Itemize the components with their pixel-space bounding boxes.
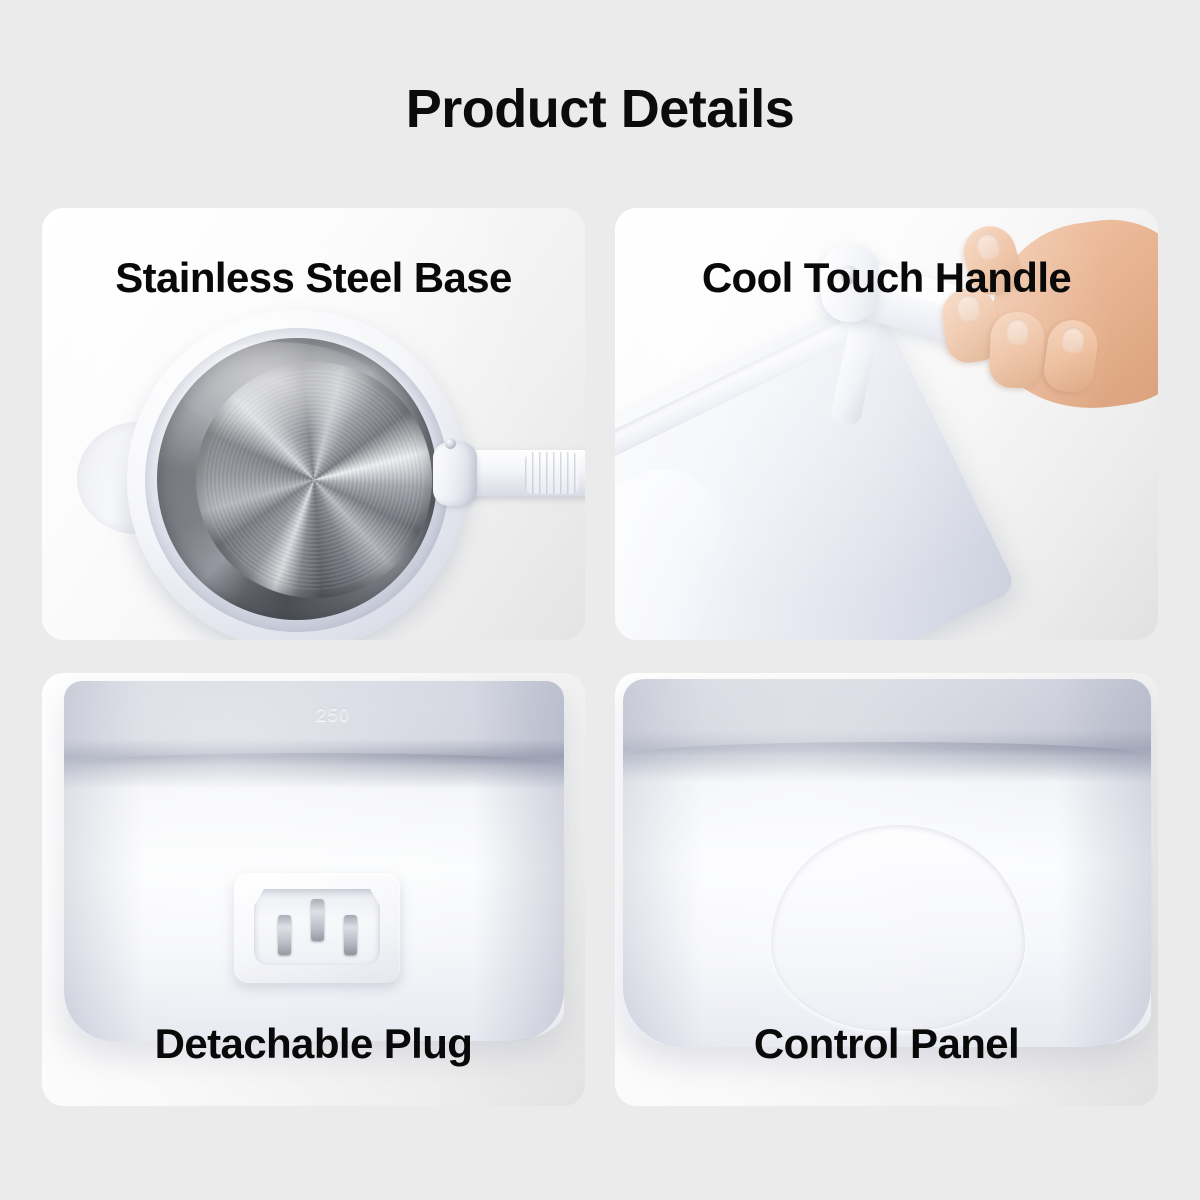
socket-pin-1 — [278, 915, 291, 955]
feature-card-cool-touch-handle[interactable]: Cool Touch Handle — [615, 208, 1158, 640]
power-inlet-housing — [234, 873, 400, 983]
socket-pin-2 — [311, 899, 324, 941]
feature-card-grid: Stainless Steel Base Cool Touch Handl — [42, 208, 1158, 1106]
kettle-base-body: 250 — [64, 681, 564, 1041]
feature-card-stainless-steel-base[interactable]: Stainless Steel Base — [42, 208, 585, 640]
fingernail — [1061, 326, 1086, 355]
feature-card-detachable-plug[interactable]: 250 Detachable Plug — [42, 673, 585, 1106]
card-label-control-panel: Control Panel — [615, 1020, 1158, 1068]
folded-handle — [427, 436, 586, 512]
body-shadow-left — [64, 681, 144, 1041]
product-details-page: Product Details — [0, 0, 1200, 1200]
page-title: Product Details — [0, 78, 1200, 140]
card-label-cool-touch-handle: Cool Touch Handle — [615, 254, 1158, 302]
body-shadow-right — [1059, 679, 1151, 1047]
power-inlet-socket — [254, 889, 380, 965]
kettle-body-with-panel — [623, 679, 1151, 1047]
fingernail — [1006, 319, 1029, 346]
card-label-stainless-steel-base: Stainless Steel Base — [42, 254, 585, 302]
body-shadow-right — [474, 681, 564, 1041]
control-panel-recess — [771, 825, 1025, 1031]
hand-gripping-handle — [914, 216, 1158, 446]
stainless-steel-disc — [196, 362, 432, 598]
handle-grip-ribs — [525, 452, 579, 494]
card-label-detachable-plug: Detachable Plug — [42, 1020, 585, 1068]
kettle-top-view — [99, 310, 529, 640]
feature-card-control-panel[interactable]: KEEP WARM OFF BOIL Control Panel — [615, 673, 1158, 1106]
handle-hinge-joint — [433, 442, 477, 506]
body-shadow-left — [623, 679, 703, 1047]
embossed-marking: 250 — [296, 703, 370, 729]
socket-pin-3 — [344, 915, 357, 955]
finger-ring — [989, 311, 1046, 389]
hinge-screw-icon — [445, 438, 456, 449]
